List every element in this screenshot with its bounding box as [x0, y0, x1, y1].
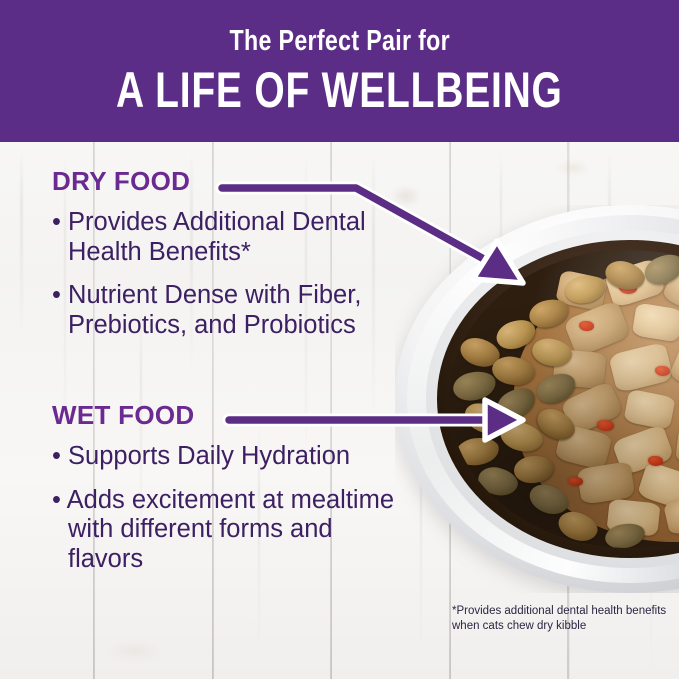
dry-food-bullet-list: • Provides Additional Dental Health Bene… — [52, 208, 397, 340]
header-kicker: The Perfect Pair for — [229, 27, 449, 56]
list-item: • Supports Daily Hydration — [52, 442, 397, 472]
bullet-glyph: • — [52, 486, 61, 514]
bullet-text: Adds excitement at mealtime with differe… — [67, 486, 394, 573]
bullet-text: Provides Additional Dental Health Benefi… — [68, 208, 366, 266]
dry-food-heading: DRY FOOD — [52, 168, 397, 194]
list-item: • Nutrient Dense with Fiber, Prebiotics,… — [52, 281, 397, 340]
bullet-glyph: • — [52, 442, 61, 470]
bullet-text: Supports Daily Hydration — [68, 442, 350, 470]
wet-food-heading: WET FOOD — [52, 402, 397, 428]
bullet-text: Nutrient Dense with Fiber, Prebiotics, a… — [68, 281, 361, 339]
bullet-glyph: • — [52, 281, 61, 309]
header-headline: A LIFE OF WELLBEING — [116, 65, 563, 115]
list-item: • Provides Additional Dental Health Bene… — [52, 208, 397, 267]
bullet-glyph: • — [52, 208, 61, 236]
wet-food-bullet-list: • Supports Daily Hydration • Adds excite… — [52, 442, 397, 574]
list-item: • Adds excitement at mealtime with diffe… — [52, 486, 397, 575]
dry-food-section: DRY FOOD • Provides Additional Dental He… — [52, 168, 397, 340]
wet-food-section: WET FOOD • Supports Daily Hydration • Ad… — [52, 402, 397, 574]
food-bowl-photo — [395, 205, 679, 593]
footnote-disclaimer: *Provides additional dental health benef… — [452, 604, 667, 634]
promotional-poster: The Perfect Pair for A LIFE OF WELLBEING… — [0, 0, 679, 679]
header-banner: The Perfect Pair for A LIFE OF WELLBEING — [0, 0, 679, 142]
